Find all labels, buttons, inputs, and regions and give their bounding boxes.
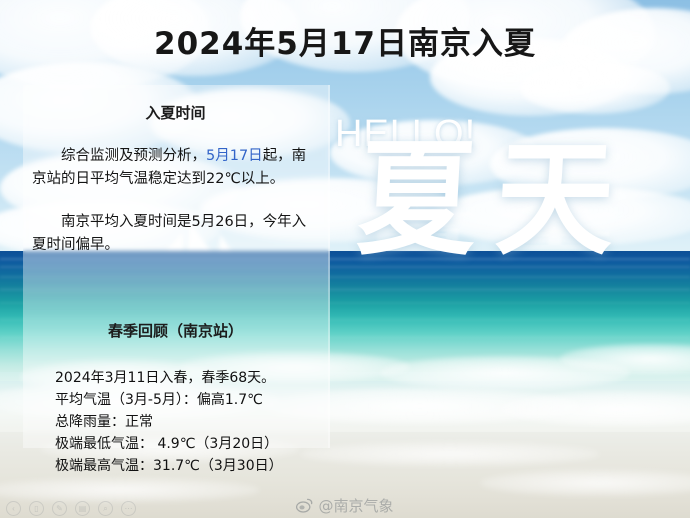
bookmark-icon[interactable]: ▯: [29, 501, 44, 516]
stat-line: 极端最低气温： 4.9℃（3月20日）: [55, 433, 328, 455]
info-panel: 入夏时间 综合监测及预测分析，5月17日起，南京站的日平均气温稳定达到22℃以上…: [23, 85, 330, 448]
stat-line: 总降雨量：正常: [55, 411, 328, 433]
section2-heading: 春季回顾（南京站）: [23, 320, 328, 341]
para1-pre-text: 综合监测及预测分析，: [61, 148, 206, 164]
back-icon[interactable]: ‹: [6, 501, 21, 516]
section1-paragraph2: 南京平均入夏时间是5月26日，今年入夏时间偏早。: [32, 211, 319, 258]
section1-paragraph1: 综合监测及预测分析，5月17日起，南京站的日平均气温稳定达到22℃以上。: [32, 145, 319, 192]
page-title: 2024年5月17日南京入夏: [0, 18, 690, 63]
weibo-handle: @南京气象: [318, 495, 393, 516]
edit-icon[interactable]: ✎: [52, 501, 67, 516]
section1-heading: 入夏时间: [23, 102, 328, 123]
search-icon[interactable]: ⌕: [98, 501, 113, 516]
stat-line: 极端最高气温：31.7℃（3月30日）: [55, 455, 328, 477]
season-calligraphy: 夏天: [355, 136, 638, 261]
weibo-logo-icon: [296, 498, 313, 513]
save-icon[interactable]: ▤: [75, 501, 90, 516]
sand-wash-shape: [300, 442, 600, 466]
more-icon[interactable]: ⋯: [121, 501, 136, 516]
hero-lettering: HELLO! 夏天 夏天: [330, 100, 650, 290]
faint-toolbar: ‹ ▯ ✎ ▤ ⌕ ⋯: [6, 501, 136, 516]
stat-line: 2024年3月11日入春，春季68天。: [55, 367, 328, 389]
highlight-date: 5月17日: [206, 148, 263, 164]
spring-stats-list: 2024年3月11日入春，春季68天。 平均气温（3月-5月）：偏高1.7℃ 总…: [55, 367, 328, 478]
stat-line: 平均气温（3月-5月）：偏高1.7℃: [55, 389, 328, 411]
